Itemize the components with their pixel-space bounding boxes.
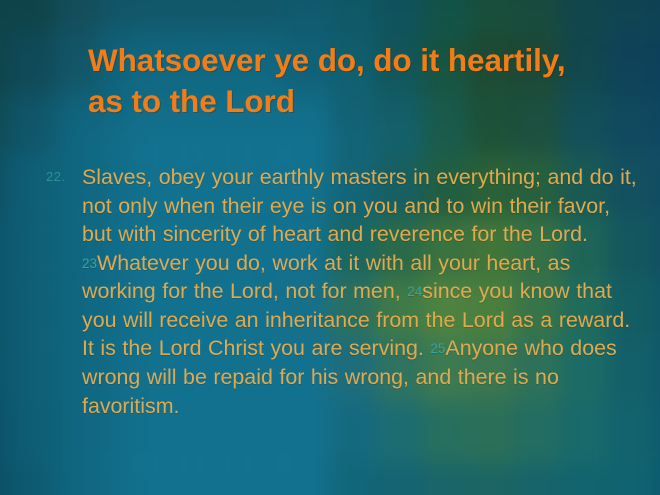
mosaic-tile-8-12 (515, 463, 561, 495)
mosaic-tile-0-13 (561, 0, 607, 32)
mosaic-tile-0-5 (191, 0, 237, 32)
mosaic-tile-7-15 (653, 402, 660, 464)
mosaic-tile-8-8 (330, 463, 376, 495)
mosaic-tile-8-10 (422, 463, 468, 495)
mosaic-tile-6-15 (653, 340, 660, 402)
mosaic-tile-8-2 (53, 463, 99, 495)
mosaic-tile-2-1 (7, 93, 53, 155)
mosaic-tile-0-1 (7, 0, 53, 32)
verse-number-24: 24 (407, 284, 422, 299)
mosaic-tile-8-6 (238, 463, 284, 495)
scripture-passage-text: Slaves, obey your earthly masters in eve… (82, 163, 646, 420)
mosaic-tile-0-12 (515, 0, 561, 32)
mosaic-tile-4-15 (653, 217, 660, 279)
mosaic-tile-8-4 (145, 463, 191, 495)
mosaic-tile-8-11 (469, 463, 515, 495)
slide-title: Whatsoever ye do, do it heartily, as to … (88, 40, 608, 122)
mosaic-tile-8-3 (99, 463, 145, 495)
verse-number-23: 23 (82, 256, 97, 271)
mosaic-tile-0-2 (53, 0, 99, 32)
mosaic-tile-2-15 (653, 93, 660, 155)
mosaic-tile-0-15 (653, 0, 660, 32)
verse-number-25: 25 (430, 341, 445, 356)
mosaic-tile-0-9 (376, 0, 422, 32)
list-marker: 22. (46, 163, 82, 184)
mosaic-tile-8-15 (653, 463, 660, 495)
mosaic-tile-8-9 (376, 463, 422, 495)
mosaic-tile-0-14 (607, 0, 653, 32)
scripture-passage-block: 22. Slaves, obey your earthly masters in… (46, 163, 646, 420)
mosaic-tile-3-15 (653, 155, 660, 217)
mosaic-tile-8-1 (7, 463, 53, 495)
mosaic-tile-0-7 (284, 0, 330, 32)
mosaic-tile-0-10 (422, 0, 468, 32)
mosaic-tile-0-6 (238, 0, 284, 32)
mosaic-tile-1-14 (607, 32, 653, 94)
mosaic-tile-8-13 (561, 463, 607, 495)
presentation-slide: Whatsoever ye do, do it heartily, as to … (0, 0, 660, 495)
mosaic-tile-8-5 (191, 463, 237, 495)
passage-segment-0: Slaves, obey your earthly masters in eve… (82, 165, 637, 246)
mosaic-tile-0-4 (145, 0, 191, 32)
mosaic-tile-2-14 (607, 93, 653, 155)
mosaic-tile-1-1 (7, 32, 53, 94)
mosaic-tile-5-15 (653, 278, 660, 340)
mosaic-tile-0-11 (469, 0, 515, 32)
mosaic-tile-1-15 (653, 32, 660, 94)
mosaic-tile-0-3 (99, 0, 145, 32)
mosaic-tile-8-7 (284, 463, 330, 495)
mosaic-tile-8-14 (607, 463, 653, 495)
mosaic-tile-0-8 (330, 0, 376, 32)
